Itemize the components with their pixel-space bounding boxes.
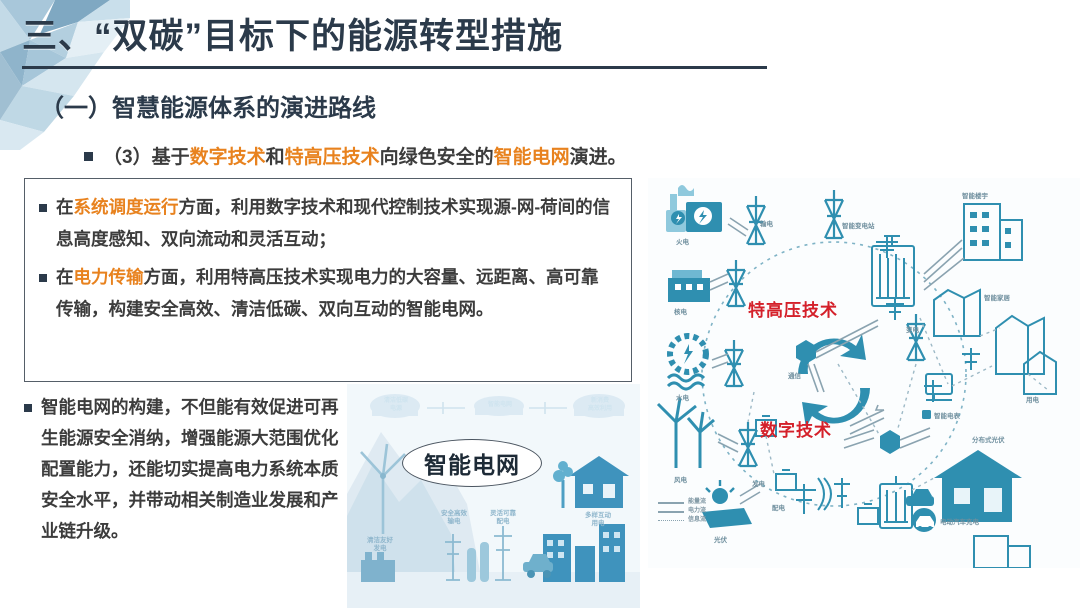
heading-seg-2: 和 bbox=[266, 147, 285, 168]
legend-row-info-flow: 信息流 bbox=[658, 516, 706, 525]
page-title: 三、“双碳”目标下的能源转型措施 bbox=[22, 8, 563, 59]
text-box-paragraph-2: 在电力传输方面，利用特高压技术实现电力的大容量、远距离、高可靠传输，构建安全高效… bbox=[39, 261, 615, 325]
heading-seg-1: （3）基于 bbox=[103, 147, 190, 168]
section-subheading: （一）智慧能源体系的演进路线 bbox=[40, 88, 376, 123]
heading-highlight-2: 特高压技术 bbox=[285, 147, 380, 168]
title-divider bbox=[22, 66, 767, 69]
mini-label-distribution: 灵活可靠配电 bbox=[480, 510, 526, 526]
diagram-legend: 能量流 电力流 信息流 bbox=[658, 498, 706, 525]
label-ev-charging: 电动汽车充电 bbox=[940, 516, 979, 526]
square-bullet-icon bbox=[39, 204, 47, 212]
p1-highlight: 系统调度运行 bbox=[74, 197, 179, 217]
label-nuclear-power: 核电 bbox=[674, 306, 687, 316]
paragraph-1-text: 在系统调度运行方面，利用数字技术和现代控制技术实现源-网-荷间的信息高度感知、双… bbox=[56, 191, 615, 255]
digital-tech-label: 数字技术 bbox=[760, 416, 832, 441]
heading-seg-3: 向绿色安全的 bbox=[380, 147, 494, 168]
legend-label-energy-flow: 能量流 bbox=[688, 498, 706, 507]
p1-seg-1: 在 bbox=[56, 197, 74, 217]
highlight-text-box: 在系统调度运行方面，利用数字技术和现代控制技术实现源-网-荷间的信息高度感知、双… bbox=[24, 178, 632, 382]
mini-label-generation: 清洁友好发电 bbox=[357, 537, 403, 553]
bottom-bullet-paragraph: 智能电网的构建，不但能有效促进可再生能源安全消纳，增强能源大范围优化配置能力，还… bbox=[24, 392, 342, 547]
label-smart-home: 智能家居 bbox=[984, 292, 1010, 302]
legend-label-power-flow: 电力流 bbox=[688, 507, 706, 516]
label-smart-substation: 智能变电站 bbox=[842, 220, 875, 230]
smart-grid-illustration: 智能电网 清洁低碳电源 智能电网 新消费高效利用 清洁友好发电 安全高效输电 灵… bbox=[347, 384, 640, 608]
text-box-paragraph-1: 在系统调度运行方面，利用数字技术和现代控制技术实现源-网-荷间的信息高度感知、双… bbox=[39, 191, 615, 255]
square-bullet-icon bbox=[24, 404, 32, 412]
uhv-digital-grid-diagram: 特高压技术 数字技术 火电 核电 水电 风电 光伏 发电 输电 智能变电站 变电… bbox=[648, 178, 1080, 568]
cloud-label-2: 智能电网 bbox=[475, 402, 525, 410]
smart-grid-center-label: 智能电网 bbox=[402, 439, 542, 487]
label-substation: 变电 bbox=[906, 324, 919, 334]
label-distribution: 配电 bbox=[772, 502, 785, 512]
label-generation: 发电 bbox=[752, 478, 765, 488]
mini-label-consumption: 多样互动用电 bbox=[575, 512, 621, 528]
p2-highlight: 电力传输 bbox=[74, 267, 144, 287]
bottom-paragraph-text: 智能电网的构建，不但能有效促进可再生能源安全消纳，增强能源大范围优化配置能力，还… bbox=[41, 392, 342, 547]
heading-highlight-3: 智能电网 bbox=[494, 147, 570, 168]
label-distributed-pv: 分布式光伏 bbox=[972, 434, 1005, 444]
uhv-tech-label: 特高压技术 bbox=[748, 296, 838, 321]
label-hydro-power: 水电 bbox=[676, 392, 689, 402]
label-consumption: 用电 bbox=[1026, 394, 1039, 404]
label-thermal-power: 火电 bbox=[676, 236, 689, 246]
legend-row-energy-flow: 能量流 bbox=[658, 498, 706, 507]
square-bullet-icon bbox=[84, 152, 93, 161]
mini-label-transmission: 安全高效输电 bbox=[431, 510, 477, 526]
smart-grid-illustration-svg bbox=[347, 384, 640, 608]
label-solar-pv: 光伏 bbox=[714, 534, 727, 544]
level3-heading-text: （3）基于数字技术和特高压技术向绿色安全的智能电网演进。 bbox=[103, 142, 627, 169]
cloud-label-3: 新消费高效利用 bbox=[574, 398, 626, 413]
legend-line-arrow bbox=[658, 511, 684, 513]
grid-diagram-svg bbox=[648, 178, 1080, 568]
legend-row-power-flow: 电力流 bbox=[658, 507, 706, 516]
heading-seg-4: 演进。 bbox=[570, 147, 627, 168]
cloud-label-1: 清洁低碳电源 bbox=[371, 398, 421, 413]
label-smart-building: 智能楼宇 bbox=[962, 190, 988, 200]
label-transmission: 输电 bbox=[760, 218, 773, 228]
label-communication: 通信 bbox=[788, 370, 801, 380]
p2-seg-1: 在 bbox=[56, 267, 74, 287]
legend-line-dotted bbox=[658, 520, 684, 521]
legend-label-info-flow: 信息流 bbox=[688, 516, 706, 525]
paragraph-2-text: 在电力传输方面，利用特高压技术实现电力的大容量、远距离、高可靠传输，构建安全高效… bbox=[56, 261, 615, 325]
label-wind-power: 风电 bbox=[674, 474, 687, 484]
level3-heading: （3）基于数字技术和特高压技术向绿色安全的智能电网演进。 bbox=[84, 142, 627, 169]
heading-highlight-1: 数字技术 bbox=[190, 147, 266, 168]
legend-line-solid bbox=[658, 502, 684, 504]
square-bullet-icon bbox=[39, 274, 47, 282]
label-smart-meter: 智能电表 bbox=[934, 410, 960, 420]
